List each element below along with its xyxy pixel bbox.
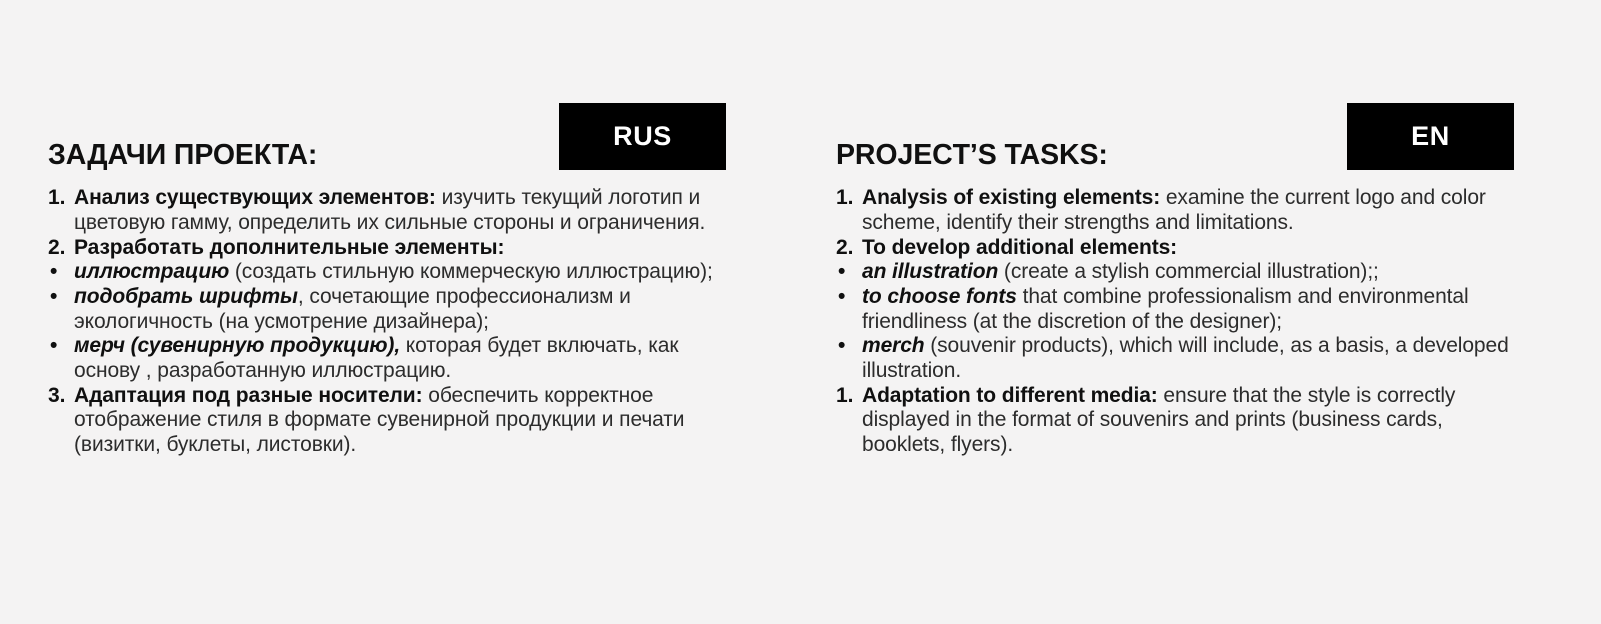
list-bullet-marker: • xyxy=(838,334,845,359)
list-bullet-marker: • xyxy=(50,334,57,359)
task-item-lead: Analysis of existing elements: xyxy=(862,186,1160,209)
task-item: 2.Разработать дополнительные элементы: xyxy=(48,236,738,261)
list-number-marker: 1. xyxy=(48,186,65,211)
task-item-body: (souvenir products), which will include,… xyxy=(862,334,1509,382)
task-item-lead: Разработать дополнительные элементы: xyxy=(74,236,504,259)
list-number-marker: 1. xyxy=(836,186,853,211)
task-item-body: (создать стильную коммерческую иллюстрац… xyxy=(229,260,713,283)
slide-root: RUS EN ЗАДАЧИ ПРОЕКТА: 1.Анализ существу… xyxy=(0,0,1601,624)
list-number-marker: 2. xyxy=(48,236,65,261)
list-bullet-marker: • xyxy=(50,260,57,285)
task-item: •иллюстрацию (создать стильную коммерчес… xyxy=(48,260,738,285)
task-item-lead: мерч (сувенирную продукцию), xyxy=(74,334,400,357)
page-title-russian: ЗАДАЧИ ПРОЕКТА: xyxy=(48,140,738,170)
list-bullet-marker: • xyxy=(838,260,845,285)
page-title-english: PROJECT’S TASKS: xyxy=(836,140,1526,170)
task-item: •мерч (сувенирную продукцию), которая бу… xyxy=(48,334,738,383)
task-item-lead: Adaptation to different media: xyxy=(862,384,1158,407)
task-item-lead: иллюстрацию xyxy=(74,260,229,283)
task-item-body: (create a stylish commercial illustratio… xyxy=(998,260,1379,283)
task-item: 3.Адаптация под разные носители: обеспеч… xyxy=(48,384,738,458)
tasks-column-russian: ЗАДАЧИ ПРОЕКТА: 1.Анализ существующих эл… xyxy=(48,140,738,458)
task-item-lead: an illustration xyxy=(862,260,998,283)
task-list-russian: 1.Анализ существующих элементов: изучить… xyxy=(48,186,738,457)
task-item: •an illustration (create a stylish comme… xyxy=(836,260,1526,285)
task-list-english: 1.Analysis of existing elements: examine… xyxy=(836,186,1526,457)
list-bullet-marker: • xyxy=(50,285,57,310)
task-item-lead: Анализ существующих элементов: xyxy=(74,186,436,209)
task-item: 1.Analysis of existing elements: examine… xyxy=(836,186,1526,235)
list-bullet-marker: • xyxy=(838,285,845,310)
task-item-lead: to choose fonts xyxy=(862,285,1017,308)
list-number-marker: 2. xyxy=(836,236,853,261)
task-item: 1.Анализ существующих элементов: изучить… xyxy=(48,186,738,235)
task-item: •to choose fonts that combine profession… xyxy=(836,285,1526,334)
task-item-lead: merch xyxy=(862,334,925,357)
task-item: •merch (souvenir products), which will i… xyxy=(836,334,1526,383)
list-number-marker: 3. xyxy=(48,384,65,409)
task-item-lead: подобрать шрифты xyxy=(74,285,298,308)
task-item-lead: To develop additional elements: xyxy=(862,236,1177,259)
list-number-marker: 1. xyxy=(836,384,853,409)
task-item-lead: Адаптация под разные носители: xyxy=(74,384,423,407)
tasks-column-english: PROJECT’S TASKS: 1.Analysis of existing … xyxy=(836,140,1526,458)
task-item: 2.To develop additional elements: xyxy=(836,236,1526,261)
task-item: •подобрать шрифты, сочетающие профессион… xyxy=(48,285,738,334)
task-item: 1.Adaptation to different media: ensure … xyxy=(836,384,1526,458)
